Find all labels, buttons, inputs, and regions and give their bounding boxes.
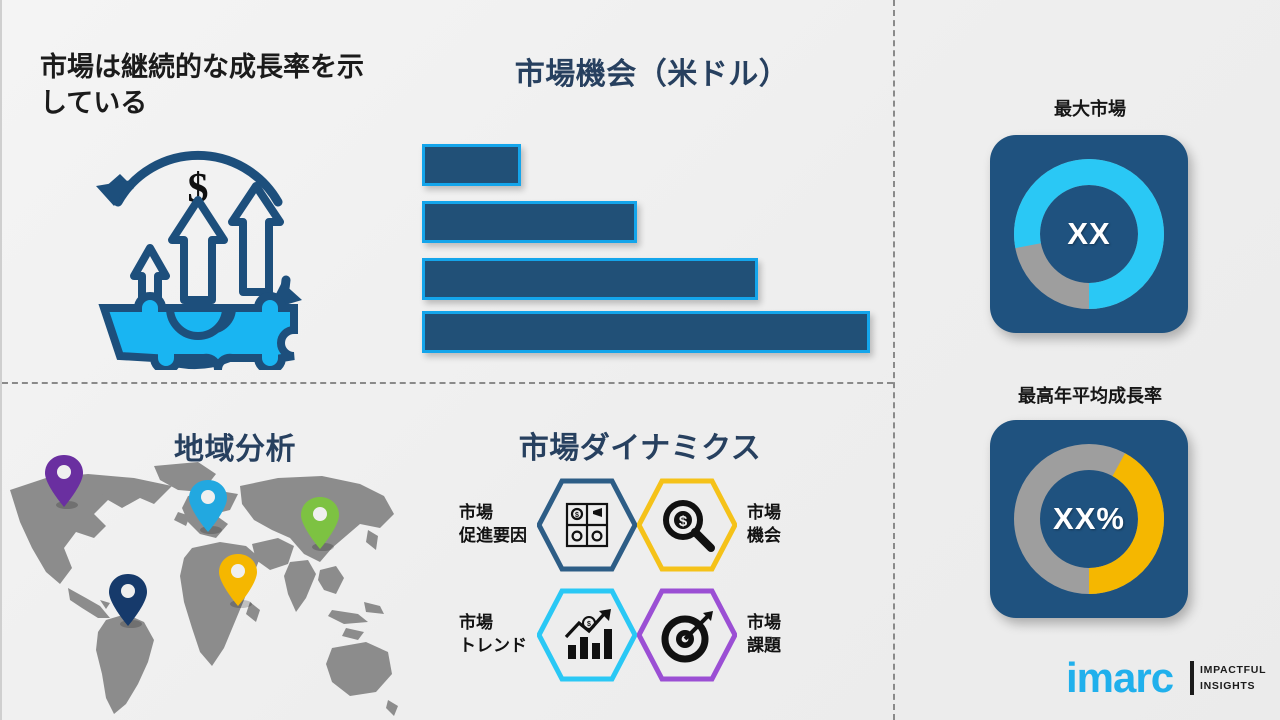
growth-panel-title: 市場は継続的な成長率を示している [40,50,390,121]
pin-south-america[interactable] [108,572,150,635]
bar-row [422,311,870,353]
dynamics-item-opportunities[interactable]: $ 市場 機会 [637,472,872,577]
pin-europe[interactable] [188,478,230,541]
hexagon-opportunities: $ [637,475,737,575]
dynamics-label-challenges: 市場 課題 [747,612,781,658]
bar-4 [422,311,870,353]
dynamics-item-trends[interactable]: 市場 トレンド $ [402,582,637,687]
bar-1 [422,144,521,186]
bar-3 [422,258,758,300]
opportunity-panel-title: 市場機会（米ドル） [422,49,882,93]
region-panel-title: 地域分析 [100,424,370,468]
dynamics-label-trends: 市場 トレンド [459,612,527,658]
dynamics-item-drivers[interactable]: 市場 促進要因 $ [402,472,637,577]
bar-row [422,201,637,243]
logo-tagline-line1: IMPACTFUL [1200,664,1266,676]
horizontal-divider [2,382,893,384]
hexagon-drivers: $ [537,475,637,575]
bar-2 [422,201,637,243]
bar-row [422,144,521,186]
pin-north-america[interactable] [44,453,86,516]
kpi-value-largest-market: XX [990,135,1188,333]
kpi-caption-highest-cagr: 最高年平均成長率 [960,382,1220,408]
svg-text:$: $ [587,621,591,628]
hexagon-trends: $ [537,585,637,685]
market-opportunity-bar-chart [422,140,882,355]
bar-row [422,258,758,300]
dynamics-panel-title: 市場ダイナミクス [420,423,860,467]
kpi-card-highest-cagr: XX% [990,420,1188,618]
kpi-card-largest-market: XX [990,135,1188,333]
pin-middle-east[interactable] [218,552,260,615]
market-dynamics-grid: 市場 促進要因 $ [402,472,872,687]
logo-tagline-line2: INSIGHTS [1200,680,1255,692]
logo-divider [1190,661,1194,695]
pin-asia[interactable] [300,495,342,558]
kpi-caption-largest-market: 最大市場 [960,95,1220,121]
svg-text:$: $ [679,513,688,530]
kpi-value-highest-cagr: XX% [990,420,1188,618]
slide-canvas: 市場は継続的な成長率を示している $ 市場機会（米ドル） [0,0,1280,720]
dynamics-label-drivers: 市場 促進要因 [459,502,527,548]
logo-wordmark: imarc [1066,657,1173,699]
dynamics-item-challenges[interactable]: 市場 課題 [637,582,872,687]
hexagon-challenges [637,585,737,685]
svg-text:$: $ [575,512,579,519]
imarc-logo: imarc IMPACTFUL INSIGHTS [1066,655,1262,707]
vertical-divider [893,0,895,720]
growth-gear-arrows-dollar-icon: $ [74,130,322,370]
dynamics-label-opportunities: 市場 機会 [747,502,781,548]
